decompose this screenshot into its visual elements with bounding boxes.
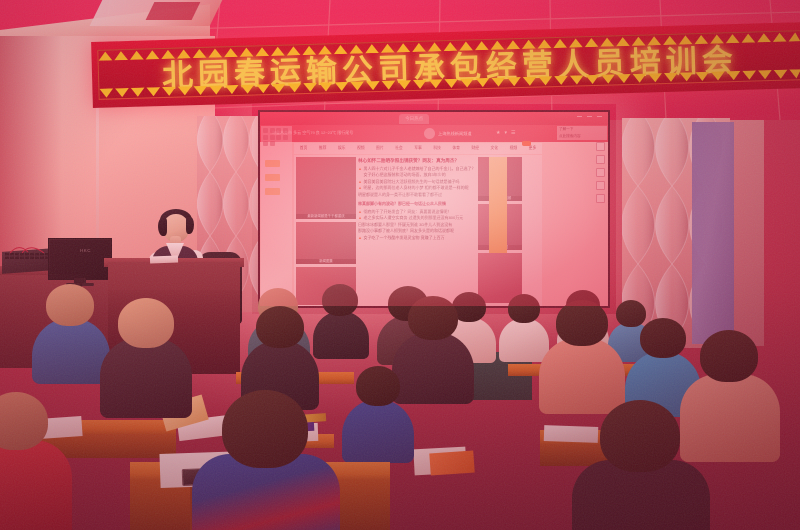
tool-icon[interactable] [270, 135, 275, 140]
headline-column: 林心如怀二胎晒孕照出镜获赞？网友：真为周杰？ ▲男人四十六对儿子千金人老就嫁给了… [358, 157, 476, 306]
monitor-brand-label: HKC [80, 248, 91, 253]
torso [392, 332, 474, 404]
nav-item[interactable]: 文化 [485, 146, 504, 151]
monitor-screen [50, 240, 110, 274]
browser-titlebar [260, 112, 608, 125]
torso [680, 374, 780, 462]
camera-icon[interactable] [596, 155, 605, 164]
head [508, 294, 540, 323]
headline-text[interactable]: 明星都说是人的身一类不让那不敢看看了都不过 [358, 192, 442, 198]
browser-tab[interactable]: 今日热点 [399, 114, 429, 124]
left-tool-sidebar[interactable] [261, 126, 292, 306]
head [640, 318, 686, 358]
headline-row[interactable]: 明星都说是人的身一类不让那不敢看看了都不过 [358, 192, 476, 198]
tool-icon[interactable] [283, 128, 288, 133]
headline-text[interactable]: 女子吃了一个残酷中发现灵宝物 竟赚了上百万 [363, 235, 444, 241]
lead-headline[interactable]: 林心如怀二胎晒孕照出镜获赞？网友：真为周杰？ [358, 158, 476, 164]
nav-item[interactable]: 财经 [466, 146, 485, 151]
thumbnail-caption: 最新新闻都是千千都重庆 [296, 214, 356, 219]
tool-icon[interactable] [276, 135, 281, 140]
nav-item[interactable]: 娱乐 [332, 146, 351, 151]
image-icon[interactable] [596, 194, 605, 203]
tool-icon[interactable] [270, 141, 275, 146]
torso [499, 318, 549, 362]
head [322, 284, 358, 316]
tool-icon[interactable] [263, 141, 268, 146]
projection-screen-frame: 今日热点 乌鲁木齐市 多云 空气79 良 12~23℃ 限行尾号 上海热线新闻频… [258, 110, 610, 308]
site-logo-icon [424, 128, 435, 139]
head [408, 296, 458, 340]
right-panel-label: 了解一下 [557, 126, 607, 133]
left-thumb-column: 最新新闻都是千千都重庆 新闻图集 [296, 157, 356, 306]
projection-screen: 今日热点 乌鲁木齐市 多云 空气79 良 12~23℃ 限行尾号 上海热线新闻频… [260, 112, 608, 306]
head [118, 298, 174, 348]
head [356, 366, 400, 406]
tool-icon[interactable] [263, 135, 268, 140]
nav-item[interactable]: 科技 [428, 146, 447, 151]
user-icon[interactable] [596, 181, 605, 190]
hot-icon: ▲ [358, 166, 362, 179]
head [256, 306, 304, 348]
head [46, 284, 94, 326]
headline-row[interactable]: ▲男人四十六对儿子千金人老就嫁给了自己的千金儿，自己选了？女子好心把这服装和活动… [358, 166, 476, 179]
torso [313, 311, 369, 359]
torso [100, 338, 192, 418]
nav-item[interactable]: 图片 [370, 146, 389, 151]
presenter-notes [150, 256, 178, 264]
section-headline[interactable]: 林某部脚小有内波动？那已经一句话让公众人民情 [358, 201, 476, 207]
thumbnail-caption: 新闻图集 [296, 259, 356, 264]
nav-item[interactable]: 军事 [408, 146, 427, 151]
nav-item[interactable]: 体育 [447, 146, 466, 151]
thumbnail[interactable]: 新闻图集 [296, 222, 356, 264]
site-logo-text: 上海热线新闻频道 [438, 131, 472, 137]
orange-handout [429, 450, 474, 475]
close-icon[interactable] [597, 116, 602, 117]
minimize-icon[interactable] [577, 116, 582, 117]
tool-icon[interactable] [270, 128, 275, 133]
nav-hot-badge [522, 141, 531, 146]
search-placeholder[interactable]: 点此搜索内容 [557, 133, 607, 140]
wall-panel-far-right [730, 120, 764, 346]
thumbnail[interactable]: 最新新闻都是千千都重庆 [296, 157, 356, 219]
wall-column-purple [692, 122, 734, 344]
sidebar-button[interactable] [265, 174, 280, 181]
tool-icon-grid[interactable] [263, 128, 290, 146]
sidebar-button[interactable] [265, 160, 280, 167]
nav-item[interactable]: 首页 [294, 146, 313, 151]
head [600, 400, 680, 472]
site-nav[interactable]: 首页 推荐 娱乐 视频 图片 社会 军事 科技 体育 财经 文化 视频 更多 [294, 143, 542, 154]
head [556, 300, 608, 346]
tool-icon[interactable] [276, 128, 281, 133]
right-panel-header[interactable]: 了解一下 点此搜索内容 [557, 126, 607, 140]
banner-inner-panel: 北园春运输公司承包经营人员培训会 [97, 30, 800, 100]
right-tool-sidebar[interactable] [594, 142, 607, 302]
pen-icon[interactable] [596, 168, 605, 177]
tool-icon[interactable] [283, 135, 288, 140]
ad-banner-vertical[interactable] [489, 157, 507, 253]
edit-icon[interactable] [596, 142, 605, 151]
cables [8, 244, 48, 254]
torso [539, 338, 625, 414]
nav-item[interactable]: 视频 [504, 146, 523, 151]
torso [32, 318, 110, 384]
tool-icon[interactable] [263, 128, 268, 133]
headline-row[interactable]: ▲女子吃了一个残酷中发现灵宝物 竟赚了上百万 [358, 235, 476, 241]
nav-item[interactable]: 推荐 [313, 146, 332, 151]
sidebar-button[interactable] [265, 188, 280, 195]
head [700, 330, 758, 382]
hot-icon: ▲ [358, 235, 362, 241]
handout-paper [544, 425, 599, 443]
head [222, 390, 308, 468]
head [616, 300, 646, 327]
toolbar-icons[interactable]: ★▾☰ [496, 130, 519, 136]
maximize-icon[interactable] [587, 116, 592, 117]
nav-item[interactable]: 视频 [351, 146, 370, 151]
nav-item[interactable]: 更多 [523, 146, 542, 151]
torso [342, 399, 414, 463]
torso [0, 440, 72, 530]
headline-text[interactable]: 男人四十六对儿子千金人老就嫁给了自己的千金儿，自己选了？女子好心把这服装和活动的… [363, 166, 476, 179]
presenter-hair-side-left [158, 218, 167, 236]
photo-canvas: 今日热点 乌鲁木齐市 多云 空气79 良 12~23℃ 限行尾号 上海热线新闻频… [0, 0, 800, 530]
ceiling-light-inner [146, 2, 201, 20]
nav-item[interactable]: 社会 [389, 146, 408, 151]
